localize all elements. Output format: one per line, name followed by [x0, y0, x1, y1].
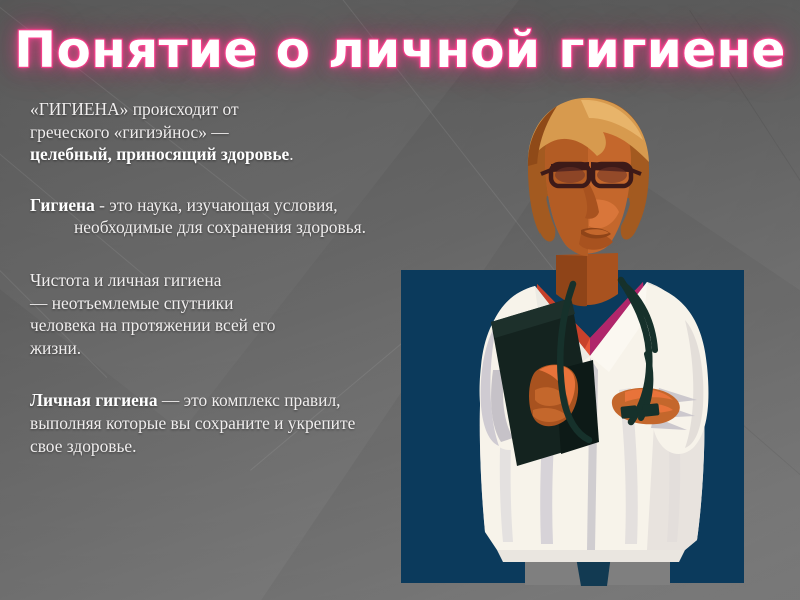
body-text-column: «ГИГИЕНА» происходит от греческого «гиги…: [30, 98, 382, 457]
paragraph3-line4: жизни.: [30, 338, 81, 358]
paragraph-hygiene-science: Гигиена - это наука, изучающая условия, …: [30, 194, 382, 239]
paragraph4-lead-bold: Личная гигиена: [30, 390, 158, 410]
female-doctor-illustration: [385, 70, 800, 600]
paragraph-personal-hygiene: Личная гигиена — это комплекс правил, вы…: [30, 389, 382, 457]
paragraph-definition-origin: «ГИГИЕНА» происходит от греческого «гиги…: [30, 98, 382, 166]
paragraph1-line1: «ГИГИЕНА» происходит от: [30, 99, 239, 119]
slide-title-container: Понятие о личной гигиене: [0, 24, 800, 77]
paragraph2-lead-bold: Гигиена: [30, 195, 95, 215]
paragraph1-line2: греческого «гигиэйнос» —: [30, 122, 229, 142]
paragraph3-line2: — неотъемлемые спутники: [30, 293, 233, 313]
paragraph3-line1: Чистота и личная гигиена: [30, 270, 221, 290]
slide: Понятие о личной гигиене «ГИГИЕНА» проис…: [0, 0, 800, 600]
paragraph1-tail: .: [289, 144, 293, 164]
paragraph2-rest: - это наука, изучающая условия, необходи…: [74, 195, 366, 238]
paragraph1-bold-phrase: целебный, приносящий здоровье: [30, 144, 289, 164]
slide-title: Понятие о личной гигиене: [14, 24, 786, 77]
paragraph-cleanliness: Чистота и личная гигиена — неотъемлемые …: [30, 269, 382, 359]
paragraph3-line3: человека на протяжении всей его: [30, 315, 275, 335]
